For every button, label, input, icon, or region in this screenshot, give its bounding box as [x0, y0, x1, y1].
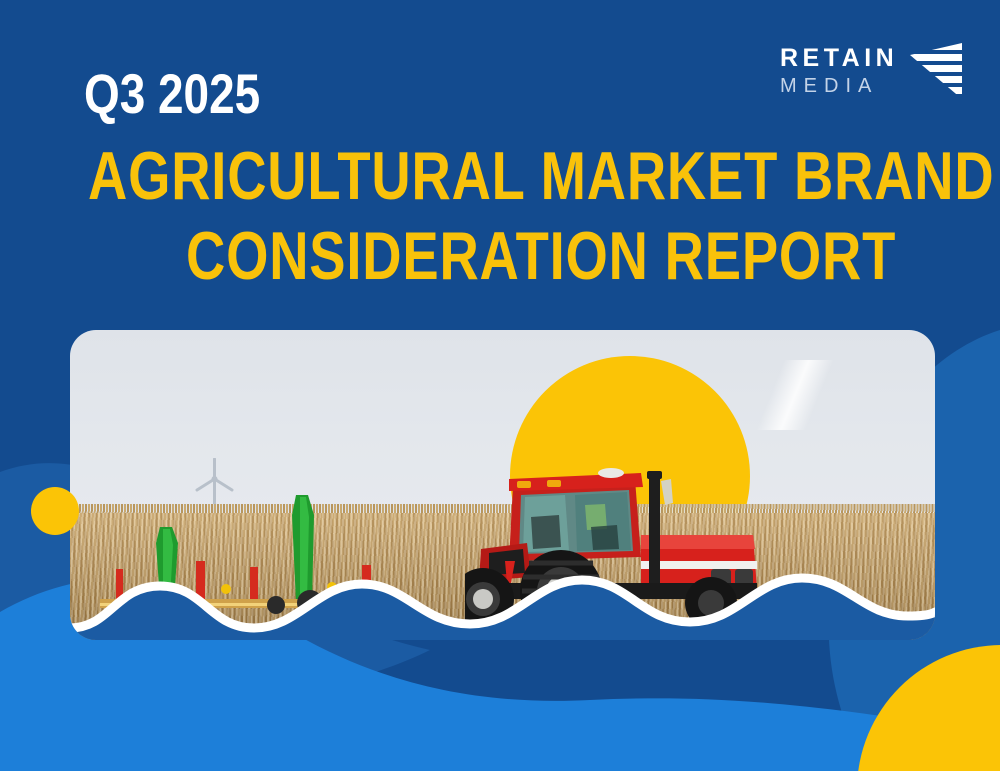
logo-secondary-text: MEDIA: [780, 76, 878, 96]
page-title-line-1: AGRICULTURAL MARKET BRAND: [88, 142, 994, 210]
logo-wordmark: RETAIN MEDIA: [780, 46, 898, 96]
brand-logo[interactable]: RETAIN MEDIA: [780, 34, 960, 108]
striped-triangle-icon: [908, 41, 964, 101]
eyebrow-quarter-label: Q3 2025: [84, 66, 260, 122]
white-sine-wave-overlay: [70, 550, 935, 640]
report-cover-page: RETAIN MEDIA Q3 2025 AGRICUL: [0, 0, 1000, 771]
page-title-line-2: CONSIDERATION REPORT: [186, 222, 896, 290]
hero-photo: [70, 330, 935, 640]
corner-yellow-circle: [857, 645, 1000, 771]
logo-primary-text: RETAIN: [780, 46, 898, 71]
yellow-accent-dot: [31, 487, 79, 535]
logo-row: RETAIN MEDIA: [780, 41, 964, 101]
